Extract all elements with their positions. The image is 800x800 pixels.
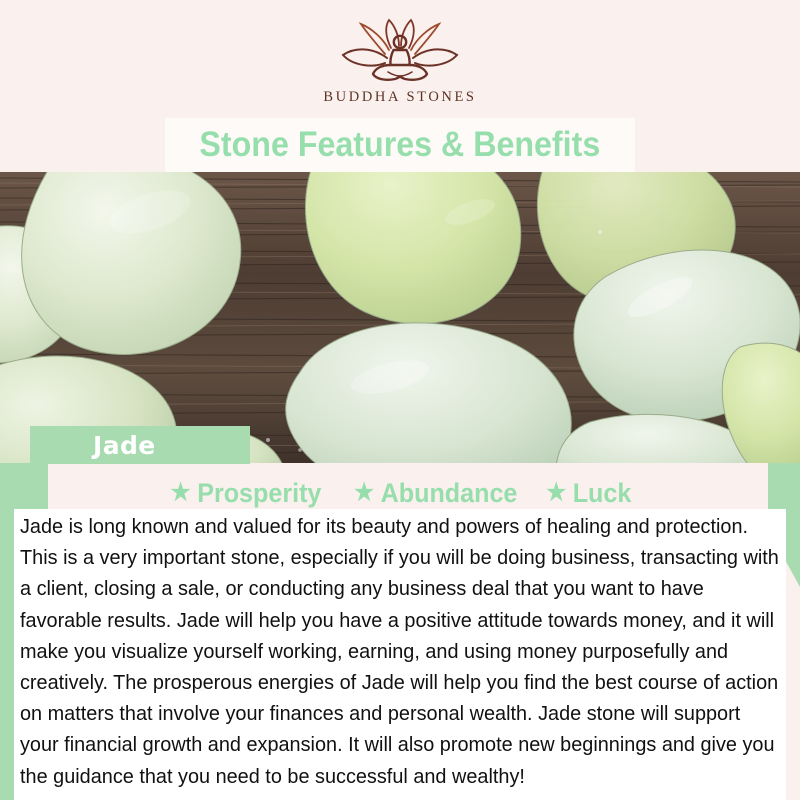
stone-photo-illustration — [0, 172, 800, 463]
lotus-meditation-logo-icon — [325, 18, 475, 84]
keyword-abundance: ★ Abundance — [354, 478, 517, 509]
keyword-label: Abundance — [380, 478, 517, 509]
stone-photo — [0, 172, 800, 463]
star-icon: ★ — [171, 481, 191, 505]
description-text: Jade is long known and valued for its be… — [20, 511, 780, 792]
keyword-prosperity: ★ Prosperity — [171, 478, 322, 509]
product-info-card: BUDDHA STONES Stone Features & Benefits — [0, 0, 800, 800]
brand-name: BUDDHA STONES — [323, 89, 476, 106]
keyword-label: Luck — [573, 478, 632, 509]
stone-name-bar: Jade — [30, 426, 250, 464]
title-banner: Stone Features & Benefits — [165, 118, 635, 172]
description-card: Jade is long known and valued for its be… — [14, 509, 786, 800]
keyword-label: Prosperity — [198, 478, 322, 509]
star-icon: ★ — [354, 481, 374, 505]
keyword-list: ★ Prosperity ★ Abundance ★ Luck — [0, 477, 800, 509]
keyword-luck: ★ Luck — [546, 478, 631, 509]
stone-name: Jade — [93, 431, 156, 460]
page-title: Stone Features & Benefits — [200, 125, 601, 165]
star-icon: ★ — [546, 481, 566, 505]
brand-logo: BUDDHA STONES — [0, 18, 800, 106]
